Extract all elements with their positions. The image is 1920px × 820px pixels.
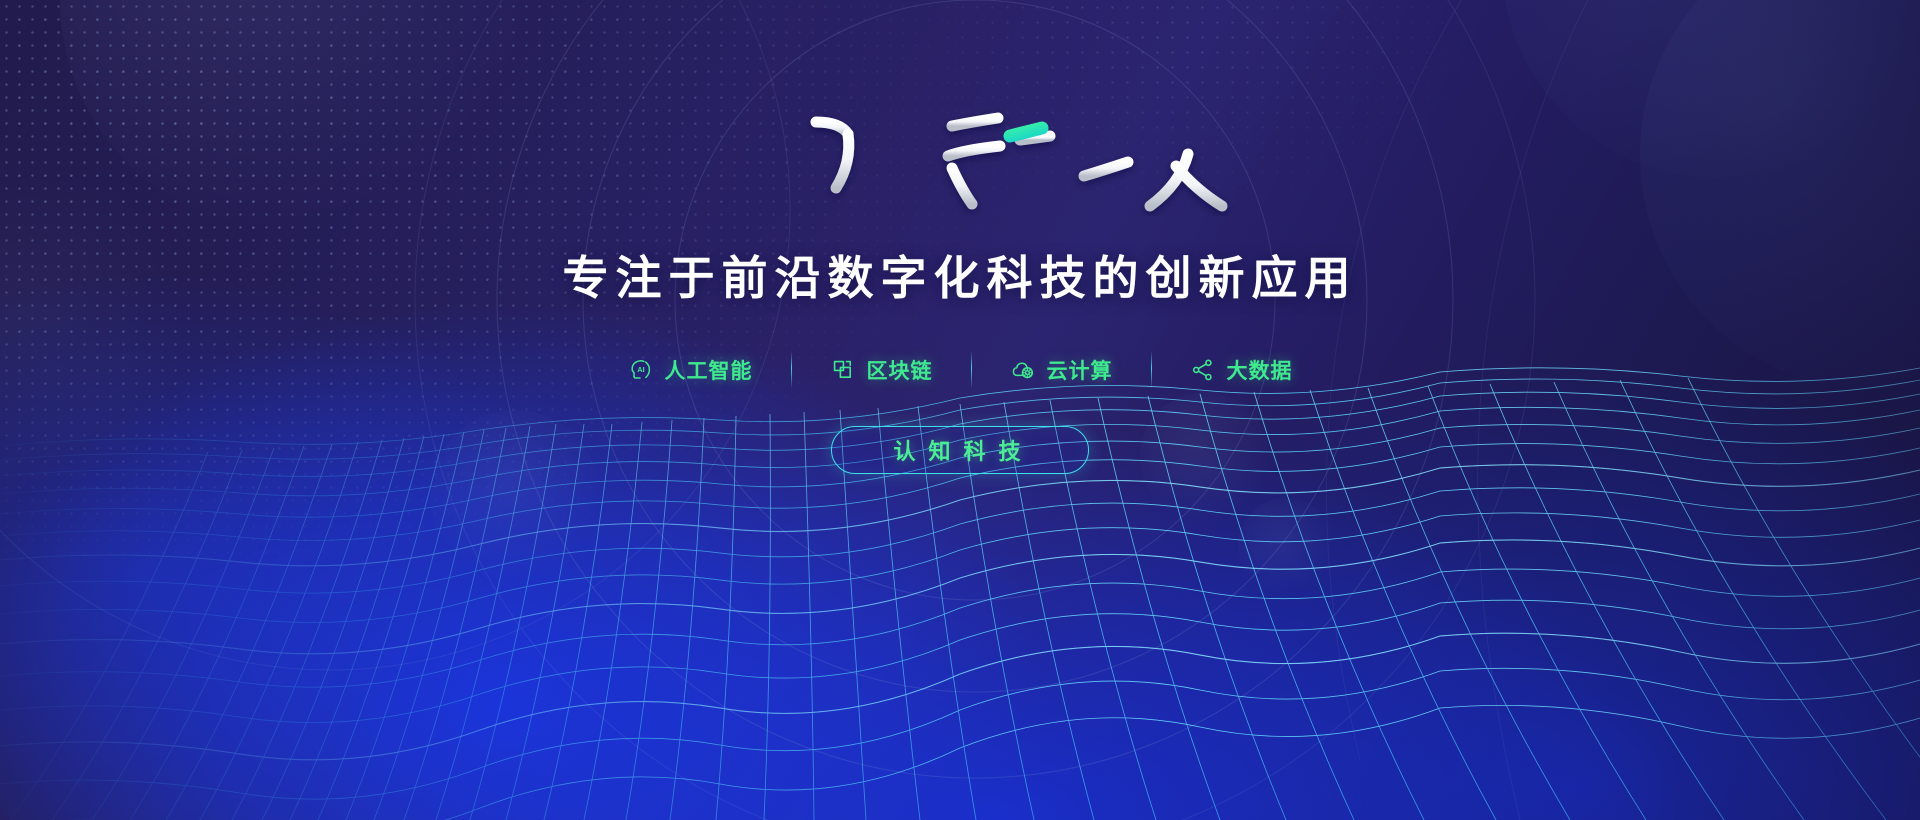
feature-tag-label: 大数据 (1227, 355, 1293, 385)
cognitive-tech-badge[interactable]: 认知科技 (831, 426, 1089, 474)
hero-subtitle: 专注于前沿数字化科技的创新应用 (563, 242, 1358, 308)
feature-tag-blockchain[interactable]: 区块链 (792, 355, 971, 385)
brand-logo: 富加科技 (680, 88, 1240, 220)
logo-accent-stroke (1010, 128, 1042, 136)
hero-banner: 富加科技 专注于前沿数字化科技的创新应用 AI 人工智能 (0, 0, 1920, 820)
feature-tag-bigdata[interactable]: 大数据 (1152, 355, 1331, 385)
cloud-gear-icon (1010, 357, 1036, 383)
feature-tag-list: AI 人工智能 区块链 (590, 350, 1331, 390)
svg-text:AI: AI (637, 365, 644, 374)
feature-tag-label: 人工智能 (665, 355, 753, 385)
feature-tag-label: 云计算 (1047, 355, 1113, 385)
feature-tag-label: 区块链 (867, 355, 933, 385)
share-nodes-icon (1190, 357, 1216, 383)
feature-tag-ai[interactable]: AI 人工智能 (590, 355, 791, 385)
ai-head-icon: AI (628, 357, 654, 383)
hero-content: 富加科技 专注于前沿数字化科技的创新应用 AI 人工智能 (0, 0, 1920, 820)
feature-tag-cloud[interactable]: 云计算 (972, 355, 1151, 385)
badge-label: 认知科技 (893, 434, 1033, 466)
blockchain-blocks-icon (830, 357, 856, 383)
